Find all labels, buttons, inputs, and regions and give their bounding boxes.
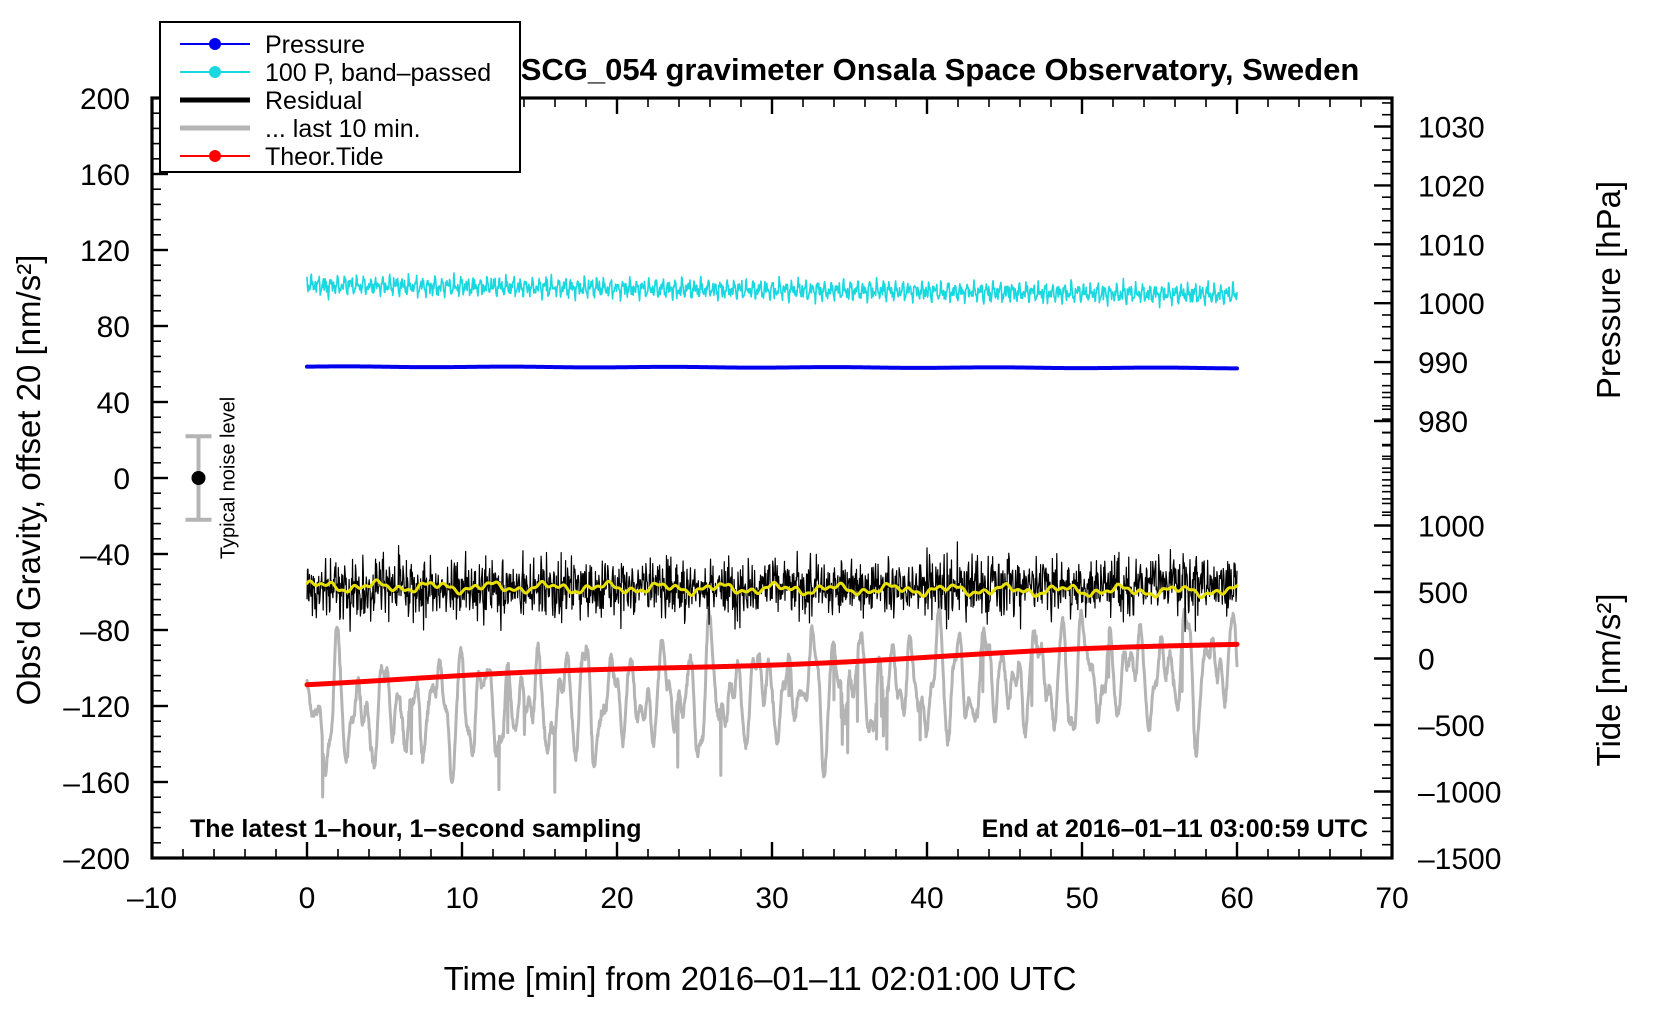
y-axis-right-pressure-title: Pressure [hPa] <box>1590 181 1627 399</box>
legend-label: Residual <box>265 87 362 115</box>
y-tick-label: 160 <box>80 159 130 192</box>
x-tick-label: 60 <box>1220 882 1253 915</box>
x-tick-label: 10 <box>445 882 478 915</box>
y-tick-label: –160 <box>63 767 130 800</box>
y-tick-label: 40 <box>97 387 130 420</box>
x-tick-label: 50 <box>1065 882 1098 915</box>
series-pressure <box>307 366 1237 368</box>
x-tick-label: 40 <box>910 882 943 915</box>
y-tick-label: 80 <box>97 311 130 344</box>
y-tick-label: –80 <box>80 615 130 648</box>
x-tick-label: 0 <box>299 882 316 915</box>
end-time-note: End at 2016–01–11 03:00:59 UTC <box>982 815 1368 843</box>
pressure-tick-label: 980 <box>1418 406 1468 439</box>
legend-swatch-dot <box>209 150 221 162</box>
pressure-tick-label: 1010 <box>1418 229 1485 262</box>
legend-label: 100 P, band–passed <box>265 59 491 87</box>
chart-canvas: –10010203040506070–200–160–120–80–400408… <box>0 0 1660 1020</box>
noise-center-dot <box>192 471 206 485</box>
y-tick-label: –120 <box>63 691 130 724</box>
y-axis-right-tide-title: Tide [nm/s²] <box>1590 594 1627 767</box>
legend-label: Pressure <box>265 31 365 59</box>
tide-tick-label: –1000 <box>1418 777 1501 810</box>
pressure-tick-label: 1020 <box>1418 170 1485 203</box>
tide-tick-label: 0 <box>1418 644 1435 677</box>
y-tick-label: 200 <box>80 83 130 116</box>
legend-swatch-dot <box>209 66 221 78</box>
legend-label: ... last 10 min. <box>265 115 421 143</box>
tide-tick-label: 1000 <box>1418 511 1485 544</box>
x-tick-label: –10 <box>127 882 177 915</box>
tide-tick-label: –1500 <box>1418 843 1501 876</box>
y-axis-title: Obs'd Gravity, offset 20 [nm/s²] <box>10 255 47 706</box>
x-axis-title: Time [min] from 2016–01–11 02:01:00 UTC <box>444 960 1077 997</box>
x-tick-label: 30 <box>755 882 788 915</box>
pressure-tick-label: 1030 <box>1418 112 1485 145</box>
tide-tick-label: 500 <box>1418 577 1468 610</box>
y-tick-label: –40 <box>80 539 130 572</box>
pressure-tick-label: 990 <box>1418 347 1468 380</box>
page-title: SCG_054 gravimeter Onsala Space Observat… <box>521 52 1360 87</box>
x-tick-label: 20 <box>600 882 633 915</box>
sampling-note: The latest 1–hour, 1–second sampling <box>190 815 642 843</box>
gravimeter-timeseries-plot: –10010203040506070–200–160–120–80–400408… <box>0 0 1660 1020</box>
x-tick-label: 70 <box>1375 882 1408 915</box>
y-tick-label: 120 <box>80 235 130 268</box>
y-tick-label: 0 <box>113 463 130 496</box>
pressure-tick-label: 1000 <box>1418 288 1485 321</box>
y-tick-label: –200 <box>63 843 130 876</box>
noise-level-label: Typical noise level <box>218 397 240 559</box>
legend-label: Theor.Tide <box>265 143 384 171</box>
tide-tick-label: –500 <box>1418 710 1485 743</box>
legend-swatch-dot <box>209 38 221 50</box>
legend[interactable]: Pressure100 P, band–passedResidual... la… <box>160 22 520 172</box>
